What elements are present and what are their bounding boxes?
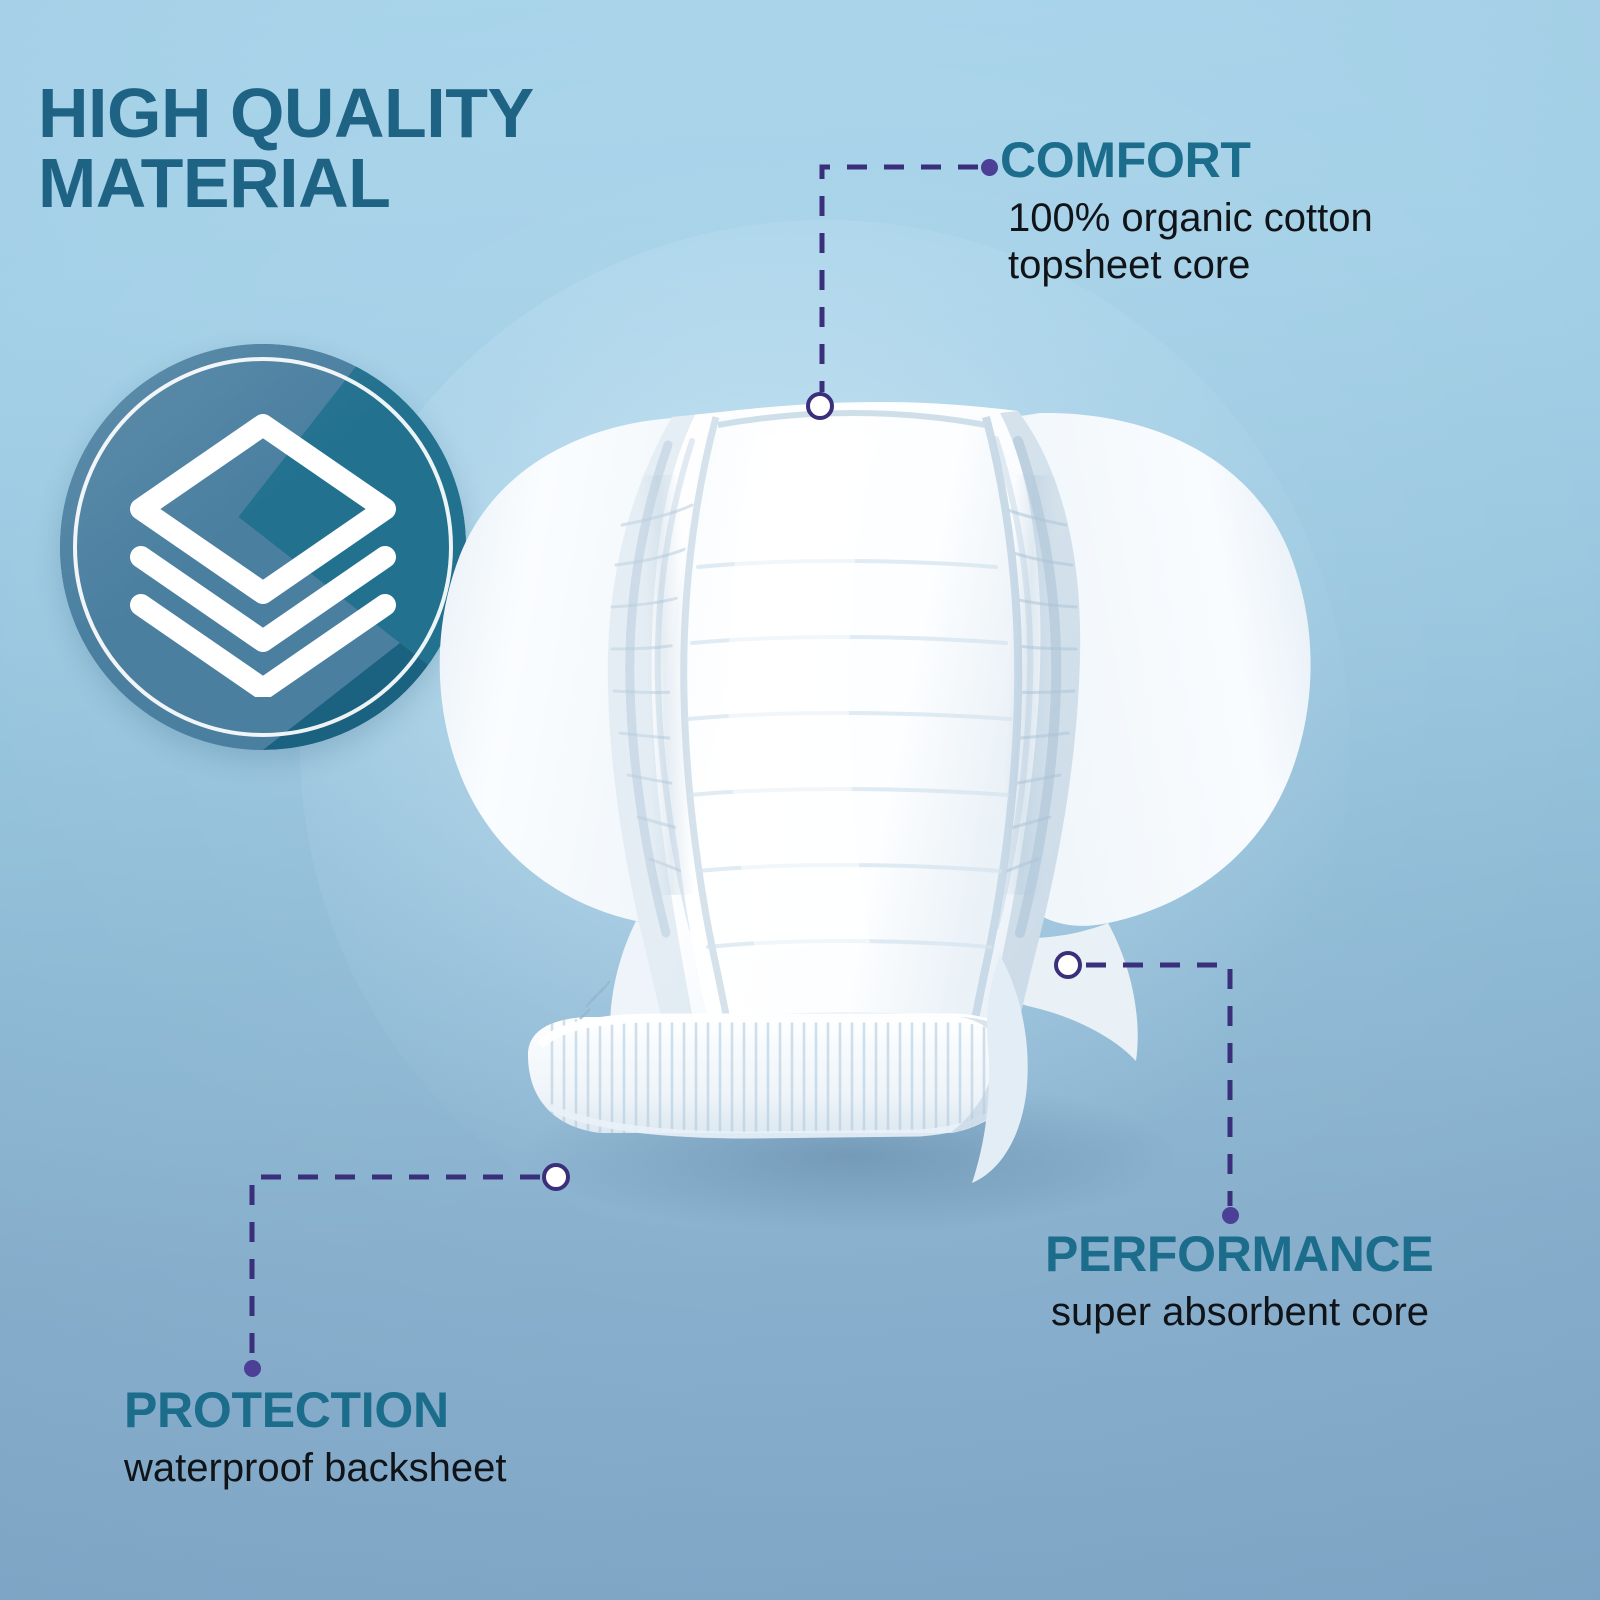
callout-comfort-heading: COMFORT (1000, 134, 1373, 187)
callout-protection-heading: PROTECTION (124, 1384, 506, 1437)
callout-performance-heading: PERFORMANCE (1045, 1228, 1433, 1281)
callout-protection-description: waterproof backsheet (124, 1445, 506, 1492)
callout-performance: PERFORMANCE super absorbent core (1045, 1228, 1433, 1336)
label-dot-protection (244, 1360, 261, 1377)
callout-performance-description: super absorbent core (1051, 1289, 1433, 1336)
infographic-canvas: HIGH QUALITY MATERIAL (0, 0, 1600, 1600)
layers-stack-icon (113, 397, 413, 697)
callout-comfort: COMFORT 100% organic cotton topsheet cor… (1000, 134, 1373, 289)
callout-comfort-description: 100% organic cotton topsheet core (1008, 195, 1373, 289)
page-title: HIGH QUALITY MATERIAL (38, 78, 678, 218)
label-dot-comfort (981, 159, 998, 176)
callout-protection: PROTECTION waterproof backsheet (124, 1384, 506, 1492)
incontinence-pad-illustration (400, 355, 1350, 1255)
